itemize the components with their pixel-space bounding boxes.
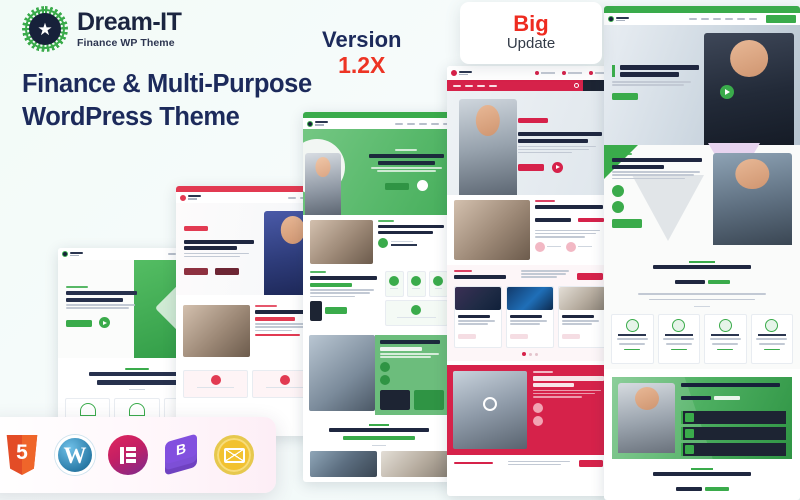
vision-button[interactable] bbox=[414, 390, 444, 410]
service-card[interactable] bbox=[385, 300, 448, 326]
mockup-about-section bbox=[447, 195, 613, 265]
cta-button[interactable] bbox=[612, 93, 638, 100]
mockup-mainnav[interactable] bbox=[447, 80, 613, 91]
mockup-collab-section bbox=[303, 331, 455, 419]
service-card[interactable] bbox=[407, 271, 426, 297]
reason-icon bbox=[685, 429, 694, 438]
cta-button[interactable] bbox=[385, 183, 409, 190]
mockup-crimson-financial[interactable] bbox=[447, 66, 613, 496]
card-cta[interactable] bbox=[510, 334, 528, 339]
mockup-logo bbox=[608, 16, 629, 22]
mockup-reason-section bbox=[612, 377, 792, 459]
mockup-support-section bbox=[303, 215, 455, 269]
hero-badge bbox=[184, 226, 208, 231]
play-icon[interactable] bbox=[417, 180, 428, 191]
mockup-agency-section bbox=[447, 365, 613, 455]
update-word-text: Update bbox=[507, 36, 555, 53]
mockup-extra-section bbox=[176, 362, 324, 403]
mockup-nav-links[interactable] bbox=[395, 123, 451, 125]
mockup-logo bbox=[62, 251, 83, 257]
reason-icon bbox=[685, 413, 694, 422]
service-icon bbox=[672, 319, 685, 332]
service-card[interactable] bbox=[704, 314, 747, 364]
mockup-nav[interactable] bbox=[604, 13, 800, 25]
mockup-project-section bbox=[303, 419, 455, 482]
feature-icon bbox=[535, 242, 545, 252]
mockup-grow-section bbox=[176, 295, 324, 362]
cta-primary[interactable] bbox=[184, 268, 208, 275]
mockup-cta-button[interactable] bbox=[66, 320, 92, 327]
search-icon[interactable] bbox=[574, 83, 579, 88]
feature-icon bbox=[533, 416, 543, 426]
mockup-hero bbox=[447, 91, 613, 195]
help-cta-button[interactable] bbox=[577, 273, 603, 280]
project-card[interactable] bbox=[310, 451, 377, 477]
mockup-hero-copy bbox=[358, 149, 455, 195]
version-block: Version 1.2X bbox=[322, 28, 401, 79]
hero-person-photo bbox=[459, 99, 517, 195]
nav-cta-button[interactable] bbox=[766, 15, 796, 23]
bootstrap-icon: B bbox=[161, 435, 201, 475]
mockup-hero bbox=[604, 25, 800, 145]
version-label: Version bbox=[322, 28, 401, 52]
card-cta[interactable] bbox=[562, 334, 580, 339]
play-icon[interactable] bbox=[99, 317, 110, 328]
mail-icon bbox=[214, 435, 254, 475]
mockup-team-section bbox=[604, 459, 800, 500]
support-photo bbox=[310, 220, 373, 264]
help-card[interactable] bbox=[558, 286, 606, 348]
project-card[interactable] bbox=[381, 451, 448, 477]
feature-icon bbox=[566, 242, 576, 252]
check-icon bbox=[612, 185, 624, 197]
elementor-icon bbox=[108, 435, 148, 475]
update-big-text: Big bbox=[513, 13, 548, 35]
about-photo bbox=[454, 200, 530, 260]
mockup-nav-links[interactable] bbox=[689, 18, 757, 20]
big-update-badge: Big Update bbox=[460, 2, 602, 64]
mockup-team-section bbox=[303, 269, 455, 331]
version-number: 1.2X bbox=[322, 52, 401, 78]
page-title: Finance & Multi-Purpose WordPress Theme bbox=[22, 68, 352, 133]
mockup-help-section bbox=[447, 265, 613, 361]
brand-tagline: Finance WP Theme bbox=[77, 37, 181, 49]
reason-icon bbox=[685, 445, 694, 454]
mockup-hero-copy bbox=[58, 286, 153, 332]
mockup-services-section bbox=[604, 253, 800, 369]
mockup-green-finance-right[interactable] bbox=[604, 6, 800, 500]
cta-button[interactable] bbox=[325, 307, 347, 314]
mockup-right-thing-section bbox=[604, 145, 800, 253]
service-icon bbox=[719, 319, 732, 332]
service-card[interactable] bbox=[611, 314, 654, 364]
mockup-topbar bbox=[604, 6, 800, 13]
mockup-hero-copy bbox=[604, 65, 710, 106]
service-card[interactable] bbox=[751, 314, 794, 364]
email-icon bbox=[589, 71, 593, 75]
check-icon bbox=[380, 362, 390, 372]
play-icon[interactable] bbox=[552, 162, 563, 173]
check-icon bbox=[380, 375, 390, 385]
mockup-hero-kicker bbox=[66, 286, 88, 288]
service-card[interactable] bbox=[385, 271, 404, 297]
check-icon bbox=[612, 201, 624, 213]
play-icon[interactable] bbox=[720, 85, 734, 99]
mockup-hero-copy bbox=[176, 218, 268, 281]
help-card[interactable] bbox=[506, 286, 554, 348]
cta-button[interactable] bbox=[612, 219, 642, 228]
hero-person-photo bbox=[704, 33, 794, 145]
brand-logo-row: ★ Dream-IT Finance WP Theme bbox=[22, 6, 352, 52]
cta-button[interactable] bbox=[518, 164, 544, 171]
play-icon[interactable] bbox=[483, 397, 497, 411]
cta-secondary[interactable] bbox=[215, 268, 239, 275]
location-icon bbox=[535, 71, 539, 75]
gear-star-badge-icon: ★ bbox=[22, 6, 68, 52]
hero-badge bbox=[518, 118, 548, 123]
star-icon: ★ bbox=[37, 21, 52, 38]
brand-name: Dream-IT bbox=[77, 9, 181, 35]
tech-stack-strip: 5 W B bbox=[0, 417, 276, 493]
card-cta[interactable] bbox=[458, 334, 476, 339]
feature-card[interactable] bbox=[183, 370, 248, 398]
agency-photo bbox=[453, 371, 527, 449]
mockup-nav[interactable] bbox=[176, 192, 324, 203]
mockup-hero-copy bbox=[510, 110, 613, 177]
mockup-hero bbox=[176, 203, 324, 295]
collab-photo bbox=[309, 335, 375, 411]
wordpress-icon: W bbox=[55, 435, 95, 475]
footer-cta[interactable] bbox=[579, 460, 603, 467]
mockup-nav-links[interactable] bbox=[453, 85, 497, 87]
mission-button[interactable] bbox=[380, 390, 410, 410]
section-person-photo bbox=[713, 153, 792, 245]
mockup-green-finance-center[interactable] bbox=[303, 112, 455, 482]
mockup-hero bbox=[303, 129, 455, 215]
support-icon bbox=[378, 238, 388, 248]
service-icon bbox=[765, 319, 778, 332]
hero-block: ★ Dream-IT Finance WP Theme Finance & Mu… bbox=[22, 6, 352, 133]
mockup-red-premium[interactable] bbox=[176, 186, 324, 436]
help-card[interactable] bbox=[454, 286, 502, 348]
carousel-dots[interactable] bbox=[454, 352, 606, 356]
mockup-logo bbox=[180, 195, 201, 201]
mockup-logo bbox=[451, 70, 472, 76]
html5-icon: 5 bbox=[2, 435, 42, 475]
section-photo bbox=[183, 305, 250, 357]
feature-icon bbox=[533, 403, 543, 413]
mockup-footer-strip bbox=[447, 455, 613, 472]
service-card[interactable] bbox=[429, 271, 448, 297]
mockup-topbar[interactable] bbox=[447, 66, 613, 80]
phone-icon bbox=[562, 71, 566, 75]
reason-photo bbox=[618, 383, 675, 453]
hero-person-photo bbox=[305, 153, 341, 215]
service-card[interactable] bbox=[658, 314, 701, 364]
service-icon bbox=[626, 319, 639, 332]
